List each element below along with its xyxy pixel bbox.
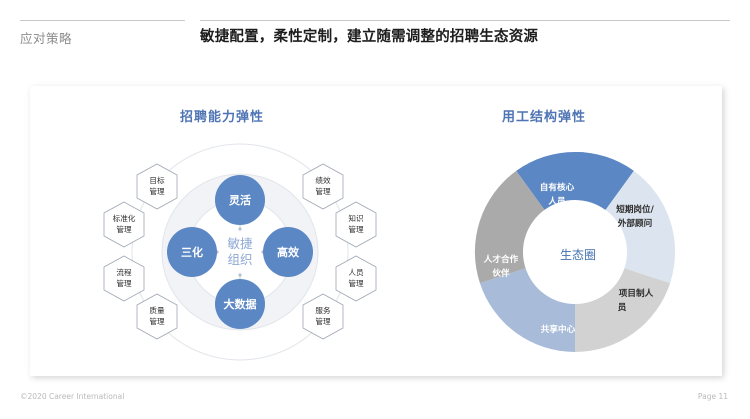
node-lnghuo[interactable]: 灵活 xyxy=(215,175,265,225)
hex-label-line2: 管理 xyxy=(149,316,165,326)
hex-label-line1: 目标 xyxy=(149,175,165,185)
hexagon-mubiao-guanli: 目标 管理 xyxy=(137,164,177,209)
segment-label-talent-partner-line2: 伙伴 xyxy=(492,267,510,279)
hex-label-line2: 管理 xyxy=(116,224,132,234)
segment-label-project-line2: 员 xyxy=(618,302,627,313)
segment-label-shared-center: 共享中心 xyxy=(541,323,576,335)
node-dashuju[interactable]: 大数据 xyxy=(215,279,265,329)
hex-label-line2: 管理 xyxy=(116,278,132,288)
page-title: 敏捷配置，柔性定制，建立随需调整的招聘生态资源 xyxy=(200,25,538,46)
hex-label-line1: 质量 xyxy=(149,305,165,315)
hex-label-line1: 流程 xyxy=(116,267,132,277)
header-rule-right xyxy=(200,20,730,21)
workforce-structure-chart: 自有核心 人员 短期岗位/ 外部顾问 项目制人 员 共享中心 人才合作 伙伴 生… xyxy=(445,134,705,369)
node-gaoxiao[interactable]: 高效 xyxy=(263,227,313,277)
footer-copyright: ©2020 Career International xyxy=(20,392,124,401)
right-panel-title: 用工结构弹性 xyxy=(502,106,586,125)
hexagon-zhiliang-guanli: 质量 管理 xyxy=(137,294,177,339)
segment-label-project-line1: 项目制人 xyxy=(619,287,654,299)
hex-label-line1: 服务 xyxy=(315,305,331,315)
hex-label-line1: 标准化 xyxy=(113,213,136,223)
node-label: 三化 xyxy=(181,245,203,259)
node-label: 灵活 xyxy=(229,193,251,207)
hexagon-renyuan-guanli: 人员 管理 xyxy=(336,256,376,301)
header-rule-left xyxy=(20,20,185,21)
segment-label-talent-partner-line1: 人才合作 xyxy=(484,253,519,265)
hexagon-zhishi-guanli: 知识 管理 xyxy=(336,202,376,247)
segment-label-self-core-line1: 自有核心 xyxy=(540,181,575,193)
segment-label-short-term-line1: 短期岗位/ xyxy=(616,203,654,215)
hex-label-line1: 人员 xyxy=(348,268,364,277)
core-label-line1: 敏捷 xyxy=(227,236,253,251)
hexagon-biaozhunhua-guanli: 标准化 管理 xyxy=(104,202,144,247)
slide: 应对策略 敏捷配置，柔性定制，建立随需调整的招聘生态资源 招聘能力弹性 用工结构… xyxy=(0,0,750,419)
hex-label-line2: 管理 xyxy=(149,186,165,196)
node-sanhua[interactable]: 三化 xyxy=(167,227,217,277)
core-agile-organization: 敏捷 组织 xyxy=(227,236,253,267)
agile-capability-diagram: 目标 管理 标准化 管理 流程 管理 质量 xyxy=(75,134,405,369)
hex-label-line1: 知识 xyxy=(348,213,364,223)
hexagon-jixiao-guanli: 绩效 管理 xyxy=(303,164,343,209)
footer-page-number: Page 11 xyxy=(698,392,728,401)
core-label-line2: 组织 xyxy=(227,252,252,267)
section-kicker: 应对策略 xyxy=(20,28,72,47)
hexagon-fuwu-guanli: 服务 管理 xyxy=(303,294,343,339)
left-panel-title: 招聘能力弹性 xyxy=(180,106,264,125)
content-card: 招聘能力弹性 用工结构弹性 xyxy=(30,86,722,376)
hex-label-line1: 绩效 xyxy=(315,175,331,185)
hex-label-line2: 管理 xyxy=(348,278,364,288)
hexagon-liucheng-guanli: 流程 管理 xyxy=(104,256,144,301)
node-label: 高效 xyxy=(277,245,300,259)
segment-label-self-core-line2: 人员 xyxy=(548,195,566,207)
segment-label-short-term-line2: 外部顾问 xyxy=(617,217,652,229)
node-label: 大数据 xyxy=(224,297,257,311)
hex-label-line2: 管理 xyxy=(315,316,331,326)
ecosystem-center-label: 生态圈 xyxy=(560,248,596,262)
hex-label-line2: 管理 xyxy=(348,224,364,234)
hex-label-line2: 管理 xyxy=(315,186,331,196)
